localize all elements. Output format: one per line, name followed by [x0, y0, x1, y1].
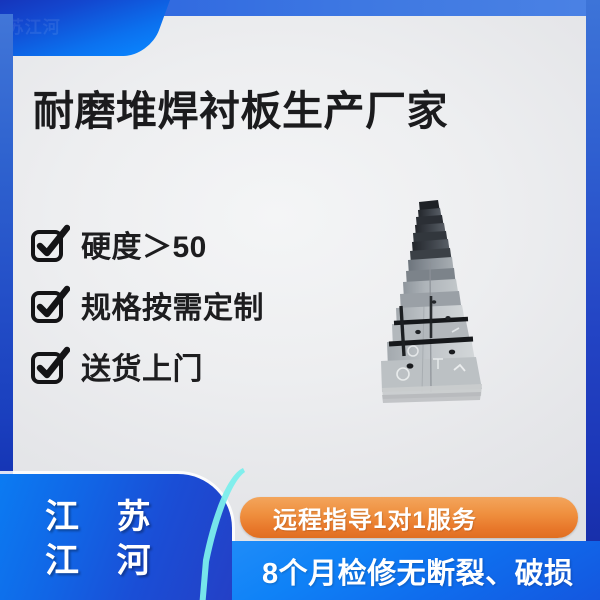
right-blue-rail — [586, 0, 600, 600]
top-blue-slab: 江苏江河 — [0, 0, 170, 56]
banner-inspection-warranty: 8个月检修无断裂、破损 — [232, 541, 600, 600]
page-title: 耐磨堆焊衬板生产厂家 — [33, 89, 448, 135]
checkbox-checked-icon — [33, 228, 65, 260]
feature-label: 规格按需定制 — [81, 283, 264, 327]
banner-remote-guidance: 远程指导1对1服务 — [240, 497, 578, 538]
list-item: 硬度＞50 — [33, 222, 264, 266]
banner-blue-text: 8个月检修无断裂、破损 — [262, 550, 574, 592]
banner-orange-text: 远程指导1对1服务 — [273, 500, 477, 535]
feature-label: 硬度＞50 — [81, 222, 207, 266]
checkbox-checked-icon — [33, 289, 65, 321]
brand-name-line2: 江 河 — [45, 540, 164, 584]
left-blue-rail — [0, 14, 13, 488]
feature-list: 硬度＞50 规格按需定制 送货上门 — [33, 222, 264, 388]
feature-label: 送货上门 — [81, 344, 203, 388]
list-item: 送货上门 — [33, 344, 264, 388]
brand-panel: 江 苏 江 河 — [0, 474, 232, 600]
poster-canvas: 江苏江河 耐磨堆焊衬板生产厂家 硬度＞50 规格按需定制 — [0, 0, 600, 600]
checkbox-checked-icon — [33, 350, 65, 382]
stacked-wear-liner-plates-image — [368, 196, 508, 424]
brand-name-line1: 江 苏 — [45, 496, 164, 540]
list-item: 规格按需定制 — [33, 283, 264, 327]
